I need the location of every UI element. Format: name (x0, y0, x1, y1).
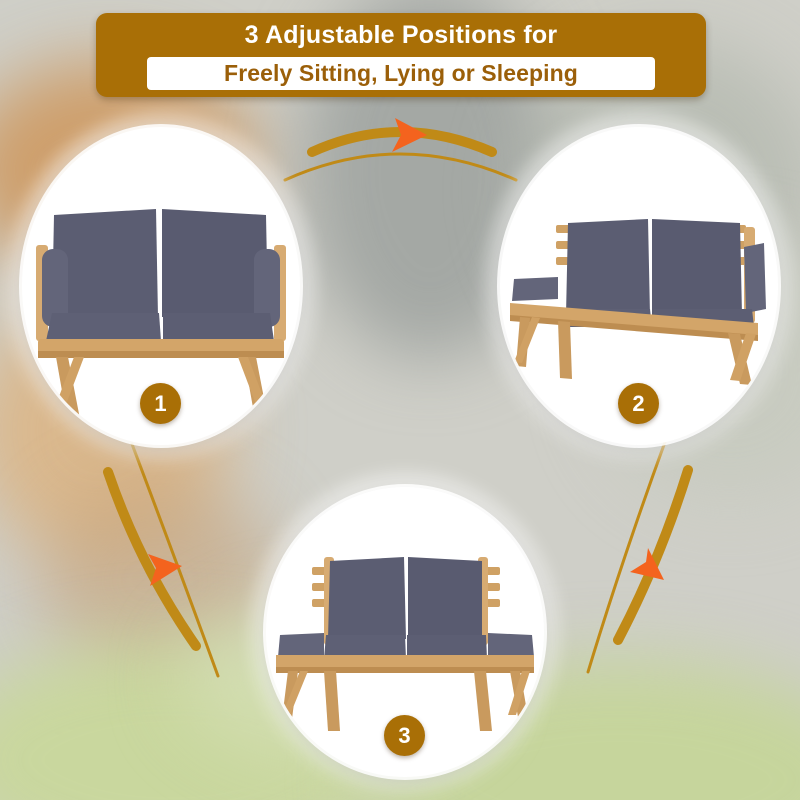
infographic-canvas: 1 (0, 0, 800, 800)
headline-line-2: Freely Sitting, Lying or Sleeping (147, 60, 655, 87)
sofa-position-sleeping[interactable]: 3 (266, 487, 544, 777)
arrow-two-to-three (588, 442, 688, 672)
arrow-one-to-two (285, 118, 516, 180)
position-badge-1[interactable]: 1 (140, 383, 181, 424)
headline-plate: Freely Sitting, Lying or Sleeping (147, 57, 655, 90)
position-badge-3[interactable]: 3 (384, 715, 425, 756)
headline-banner: 3 Adjustable Positions for Freely Sittin… (96, 13, 706, 97)
arrow-three-to-one (108, 444, 218, 676)
position-badge-2[interactable]: 2 (618, 383, 659, 424)
sofa-position-lying[interactable]: 2 (500, 127, 778, 445)
sofa-position-sitting[interactable]: 1 (22, 127, 300, 445)
headline-line-1: 3 Adjustable Positions for (96, 21, 706, 50)
